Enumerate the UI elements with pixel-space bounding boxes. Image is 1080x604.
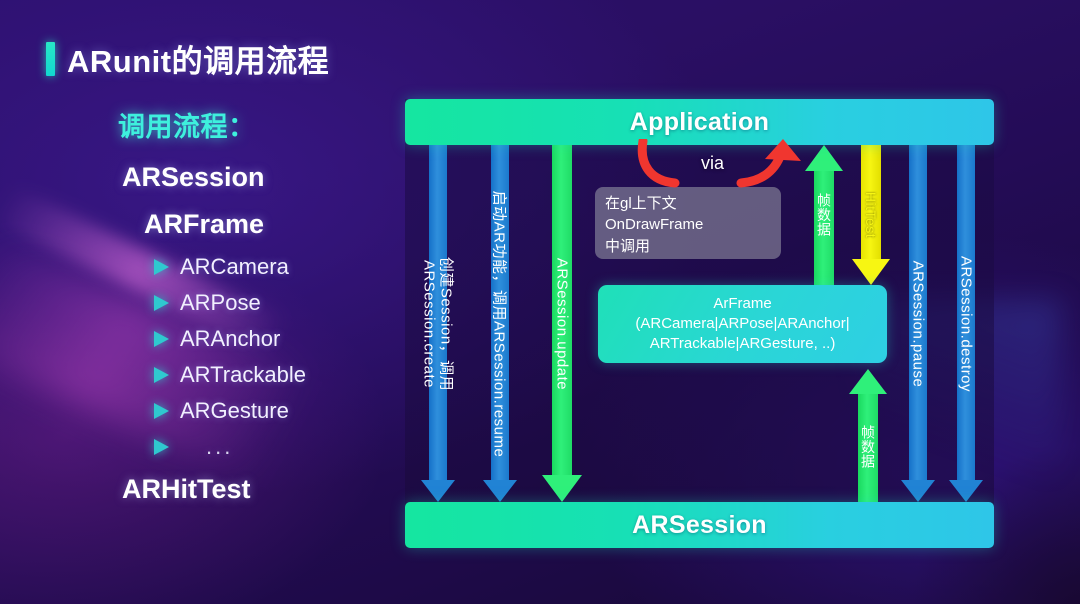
triangle-right-icon <box>154 403 169 419</box>
note-line-1: 在gl上下文 <box>605 193 771 214</box>
ondrawframe-note-box: 在gl上下文 OnDrawFrame 中调用 <box>595 187 781 259</box>
note-line-2: OnDrawFrame <box>605 214 771 235</box>
flow-diagram: Application ARSession 创建Session，调用 ARSes… <box>405 99 994 548</box>
arframe-box[interactable]: ArFrame (ARCamera|ARPose|ARAnchor| ARTra… <box>598 285 887 363</box>
via-arrow: via <box>633 139 813 191</box>
list-item-label: ... <box>206 434 233 460</box>
note-line-3: 中调用 <box>605 236 771 257</box>
list-item: ARAnchor <box>154 326 398 352</box>
list-item-label: ARTrackable <box>180 362 306 388</box>
outline-item-arsession: ARSession <box>122 162 398 193</box>
arrow-label: HitTest <box>863 192 879 238</box>
triangle-right-icon <box>154 439 169 455</box>
arrow-session-destroy: ARSession.destroy <box>949 145 983 502</box>
arrow-resume-session: 启动AR功能，调用ARSession.resume <box>483 145 517 502</box>
list-item: ARPose <box>154 290 398 316</box>
via-label: via <box>701 153 724 174</box>
arrow-hittest: HitTest <box>852 145 890 285</box>
list-item-label: ARGesture <box>180 398 289 424</box>
arframe-line-2: (ARCamera|ARPose|ARAnchor| <box>635 314 849 334</box>
outline-heading: 调用流程： <box>118 105 398 144</box>
title-accent-bar <box>46 42 55 76</box>
list-item-label: ARPose <box>180 290 261 316</box>
arrow-label: ARSession.destroy <box>958 255 975 391</box>
arrow-label-secondary: ARSession.create <box>421 259 438 387</box>
page-title: ARunit的调用流程 <box>46 36 329 81</box>
outline-item-arframe: ARFrame <box>144 209 398 240</box>
list-item: ARCamera <box>154 254 398 280</box>
list-item: ... <box>154 434 398 460</box>
triangle-right-icon <box>154 367 169 383</box>
list-item: ARGesture <box>154 398 398 424</box>
arrow-label: 启动AR功能，调用ARSession.resume <box>490 190 511 457</box>
arrow-label: 创建Session，调用 <box>437 256 458 390</box>
arrow-label: 帧数据 <box>858 425 878 469</box>
arframe-line-3: ARTrackable|ARGesture, ..) <box>650 334 836 354</box>
triangle-right-icon <box>154 331 169 347</box>
arrow-create-session: 创建Session，调用 ARSession.create <box>421 145 455 502</box>
arframe-title: ArFrame <box>713 294 771 314</box>
slide-canvas: ARunit的调用流程 调用流程： ARSession ARFrame ARCa… <box>0 0 1080 604</box>
triangle-right-icon <box>154 295 169 311</box>
arsession-bar[interactable]: ARSession <box>405 502 994 548</box>
arrow-frame-data-lower: 帧数据 <box>849 369 887 505</box>
list-item: ARTrackable <box>154 362 398 388</box>
list-item-label: ARAnchor <box>180 326 280 352</box>
arrow-label: ARSession.update <box>554 257 571 389</box>
title-text: ARunit的调用流程 <box>67 36 329 81</box>
arrow-label: ARSession.pause <box>910 260 927 387</box>
arrow-label: 帧数据 <box>814 193 834 237</box>
triangle-right-icon <box>154 259 169 275</box>
outline-item-arhittest: ARHitTest <box>122 474 398 505</box>
arrow-session-update: ARSession.update <box>542 145 582 502</box>
outline-list: 调用流程： ARSession ARFrame ARCamera ARPose … <box>118 105 398 505</box>
list-item-label: ARCamera <box>180 254 289 280</box>
arrow-session-pause: ARSession.pause <box>901 145 935 502</box>
